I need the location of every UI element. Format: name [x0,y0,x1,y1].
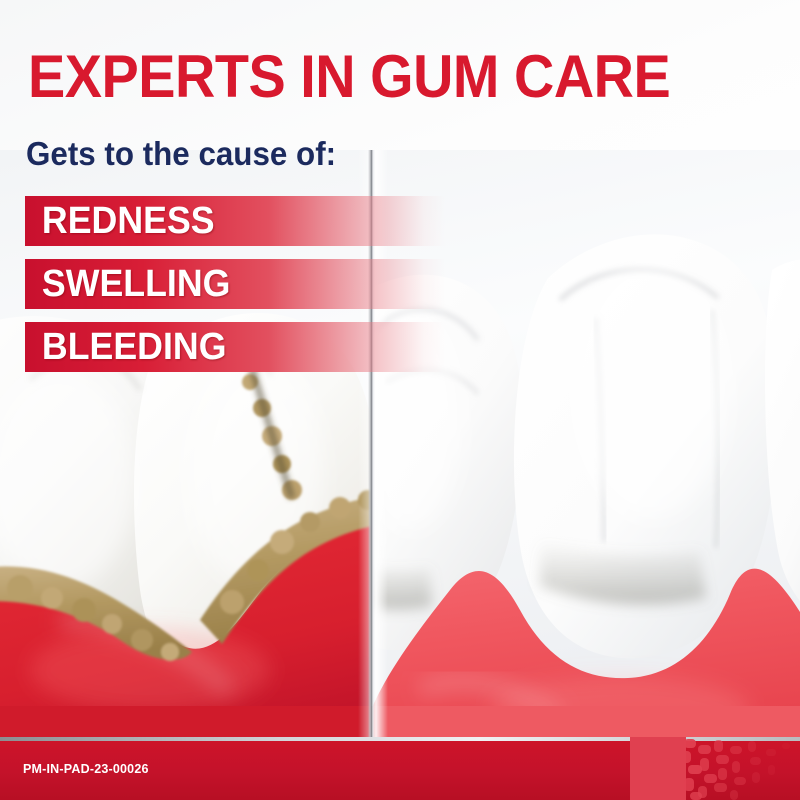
material-code: PM-IN-PAD-23-00026 [23,762,149,776]
symptom-bar-bleeding: BLEEDING [25,322,445,372]
gum-care-poster: EXPERTS IN GUM CARE Gets to the cause of… [0,0,800,800]
page-title: EXPERTS IN GUM CARE [28,48,720,106]
subheading: Gets to the cause of: [26,136,336,172]
symptom-bar-redness: REDNESS [25,196,445,246]
symptom-label: BLEEDING [25,327,226,367]
symptom-label: REDNESS [25,201,215,241]
symptom-bar-swelling: SWELLING [25,259,445,309]
pixel-dissolve-pattern-icon [630,737,800,800]
symptom-list: REDNESS SWELLING BLEEDING [25,196,445,385]
symptom-label: SWELLING [25,264,230,304]
footer-bar: PM-IN-PAD-23-00026 [0,737,800,800]
